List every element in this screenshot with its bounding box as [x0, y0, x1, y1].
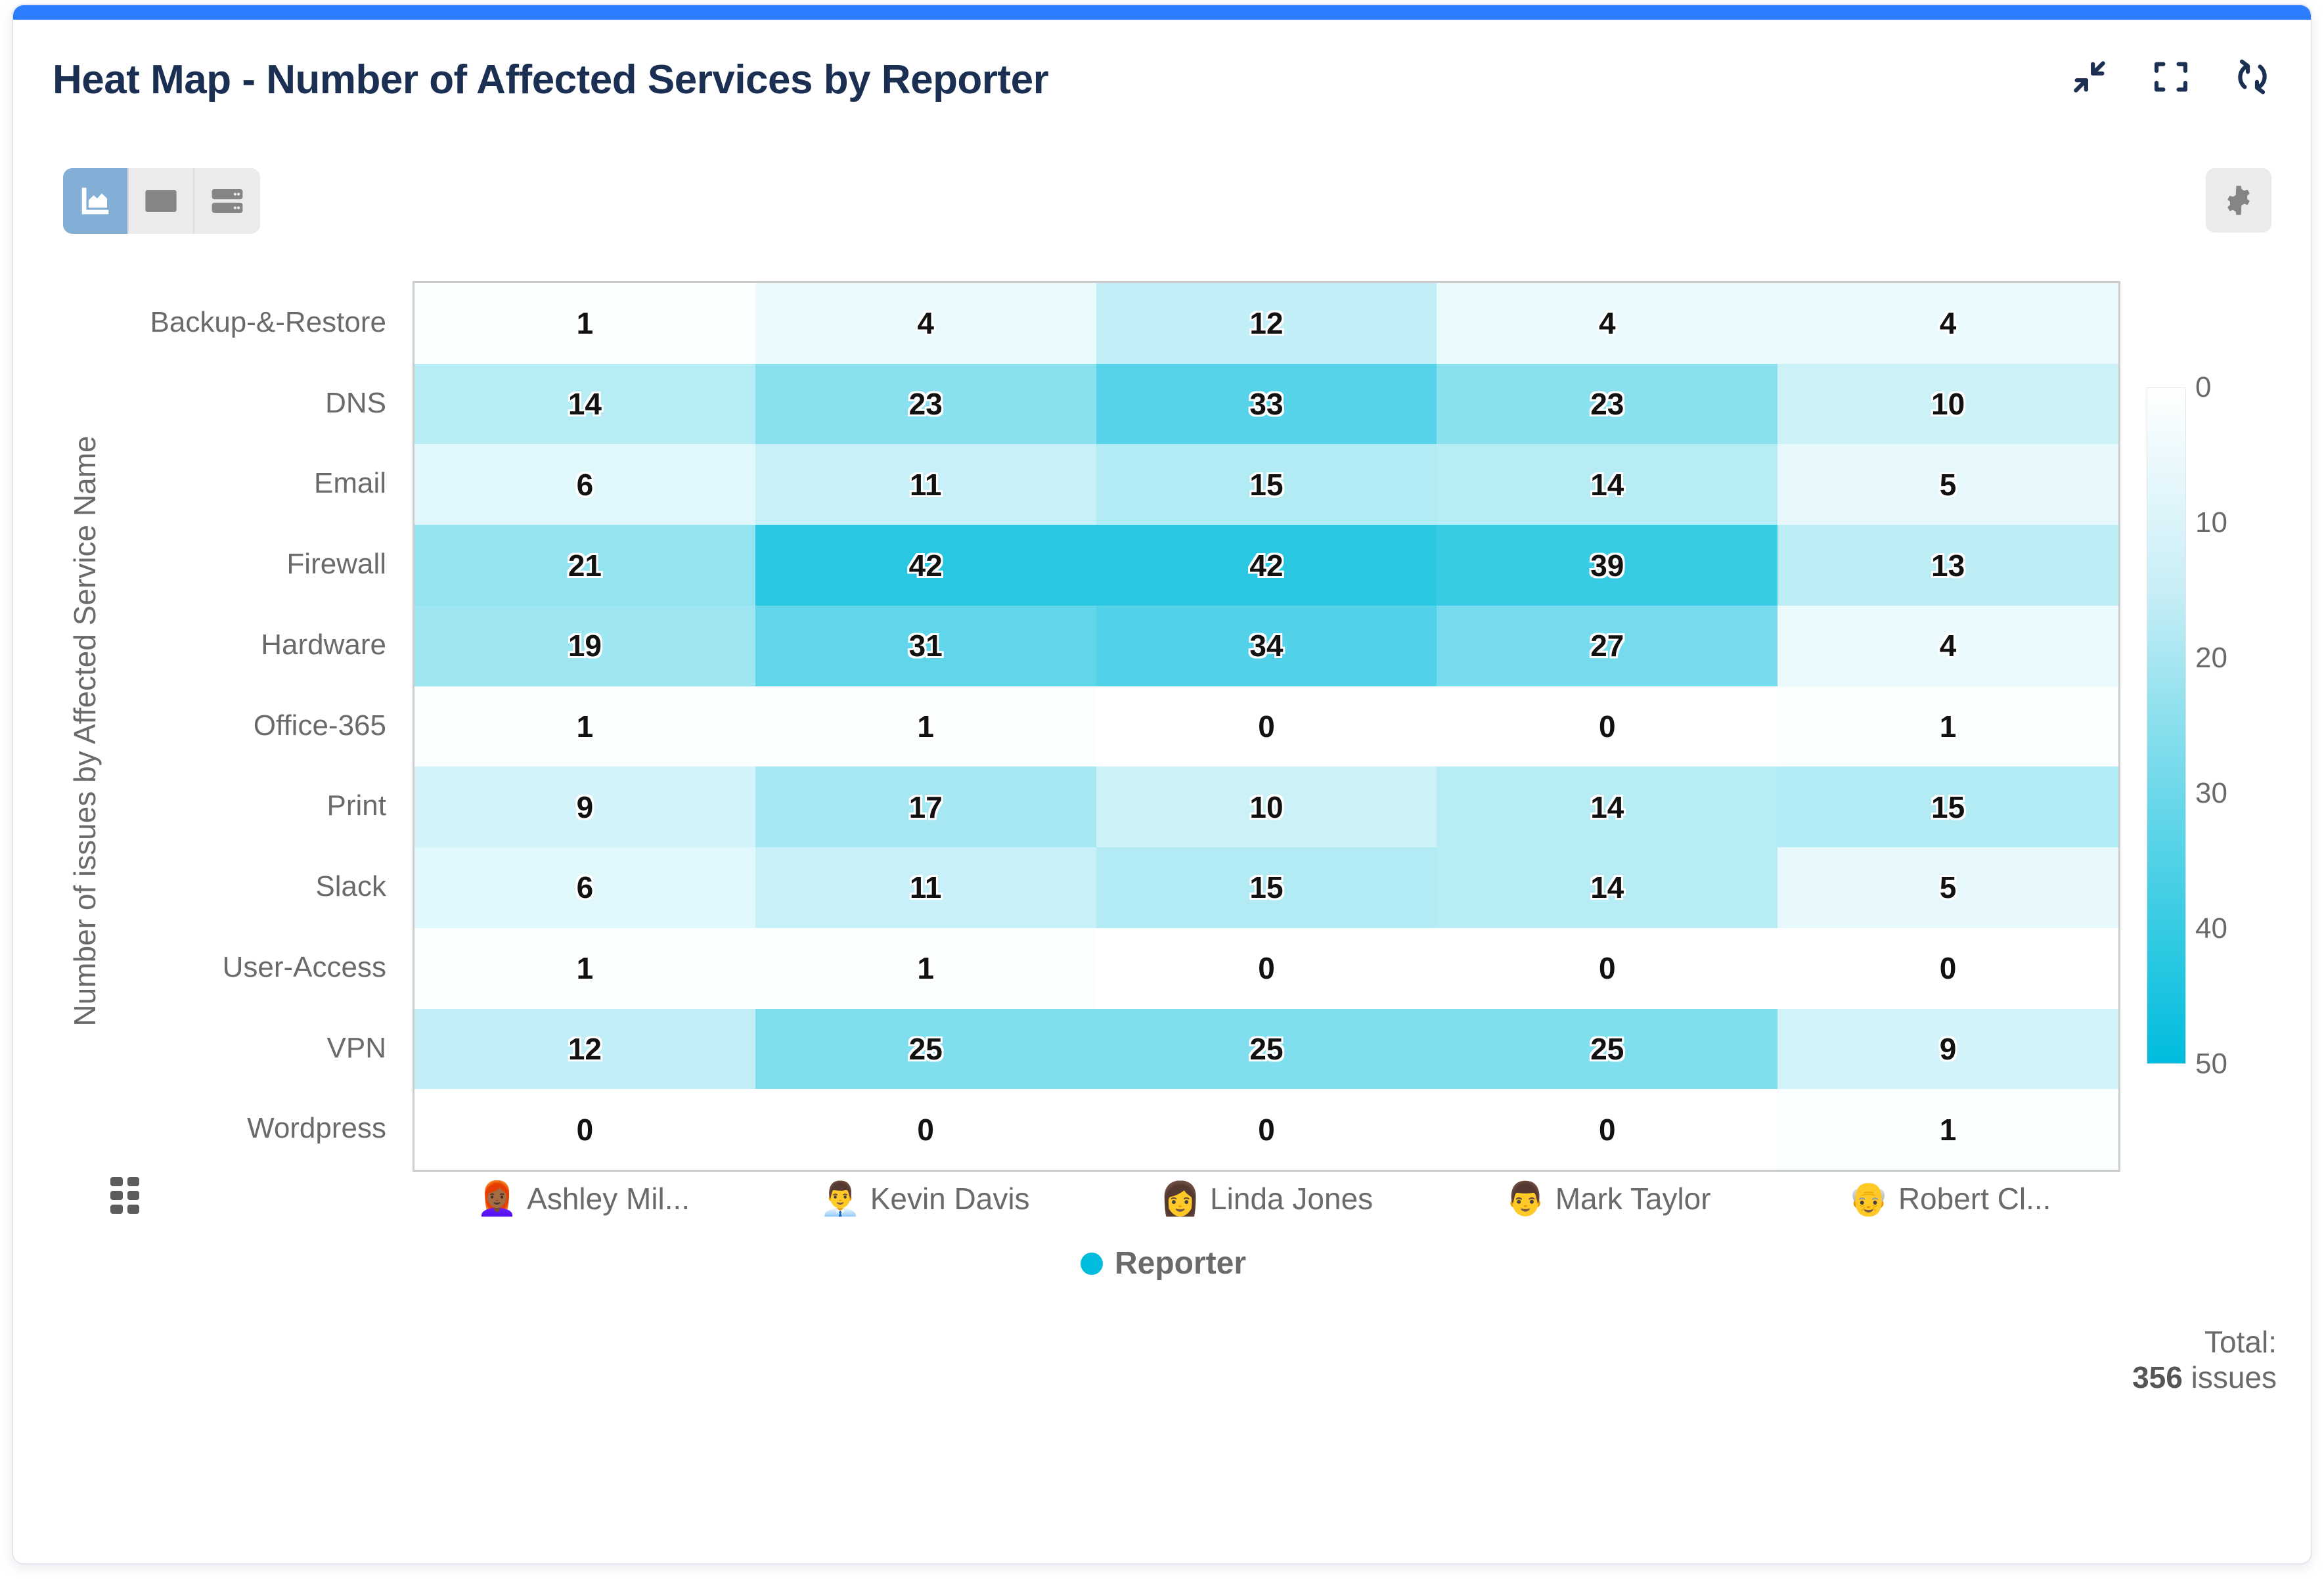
heatmap-cell[interactable]: 25 — [1437, 1009, 1777, 1090]
total-unit: issues — [2191, 1360, 2277, 1394]
color-scale-tick: 0 — [2195, 371, 2211, 404]
table-icon — [143, 183, 179, 219]
table-view-button[interactable] — [129, 168, 194, 234]
total-label: Total: — [2132, 1324, 2277, 1360]
heatmap-cell[interactable]: 10 — [1777, 364, 2118, 445]
x-axis-legend-label: Robert Cl... — [1898, 1181, 2051, 1216]
heatmap-cell[interactable]: 5 — [1777, 444, 2118, 525]
heatmap-cell[interactable]: 4 — [755, 283, 1096, 364]
heatmap-cell[interactable]: 1 — [755, 928, 1096, 1009]
series-color-dot — [1081, 1253, 1103, 1275]
y-axis-label: Backup-&-Restore — [150, 282, 386, 363]
heatmap-cell[interactable]: 1 — [1777, 686, 2118, 767]
settings-button[interactable] — [2206, 168, 2271, 233]
y-axis-label: Slack — [315, 847, 386, 927]
heatmap-grid: 1412441423332310611151452142423913193134… — [413, 281, 2120, 1172]
heatmap-cell[interactable]: 0 — [1777, 928, 2118, 1009]
x-axis-legend-item[interactable]: 👴Robert Cl... — [1779, 1181, 2120, 1216]
heatmap-cell[interactable]: 10 — [1096, 767, 1437, 847]
dot — [127, 1205, 140, 1214]
x-axis-legend-item[interactable]: 👩🏾‍🦰Ashley Mil... — [413, 1181, 754, 1216]
refresh-icon[interactable] — [2232, 56, 2273, 97]
heatmap-cell[interactable]: 0 — [1096, 928, 1437, 1009]
heatmap-cell[interactable]: 12 — [1096, 283, 1437, 364]
heatmap-cell[interactable]: 6 — [414, 847, 755, 928]
dot — [127, 1191, 140, 1200]
heatmap-cell[interactable]: 0 — [755, 1089, 1096, 1170]
heatmap-cell[interactable]: 42 — [755, 525, 1096, 606]
heatmap-cell[interactable]: 23 — [755, 364, 1096, 445]
color-scale-tick: 20 — [2195, 642, 2227, 675]
y-axis-labels: Backup-&-RestoreDNSEmailFirewallHardware… — [118, 282, 401, 1169]
y-axis-label: User-Access — [223, 927, 386, 1008]
avatar: 👨‍💼 — [820, 1182, 860, 1215]
view-toggle-group — [63, 168, 260, 234]
y-axis-label: Hardware — [261, 605, 386, 686]
heatmap-cell[interactable]: 4 — [1437, 283, 1777, 364]
heatmap-cell[interactable]: 31 — [755, 606, 1096, 686]
x-axis-legend-label: Ashley Mil... — [527, 1181, 690, 1216]
y-axis-label: Wordpress — [247, 1088, 386, 1169]
heatmap-cell[interactable]: 6 — [414, 444, 755, 525]
color-scale-tick: 50 — [2195, 1048, 2227, 1080]
y-axis-label: Firewall — [286, 524, 386, 605]
heatmap-cell[interactable]: 5 — [1777, 847, 2118, 928]
heatmap-cell[interactable]: 12 — [414, 1009, 755, 1090]
heatmap-cell[interactable]: 1 — [414, 928, 755, 1009]
server-rows-icon — [210, 183, 245, 219]
y-axis-label: Office-365 — [254, 686, 386, 767]
screenshot-root: Heat Map - Number of Affected Services b… — [0, 0, 2324, 1579]
dot — [127, 1177, 140, 1186]
y-axis-label: DNS — [325, 363, 386, 444]
heatmap-cell[interactable]: 0 — [1437, 686, 1777, 767]
heatmap-cell[interactable]: 1 — [1777, 1089, 2118, 1170]
collapse-icon[interactable] — [2069, 56, 2110, 97]
gear-icon — [2222, 183, 2256, 217]
heatmap-card: Heat Map - Number of Affected Services b… — [12, 4, 2312, 1565]
top-accent-bar — [13, 5, 2311, 20]
y-axis-label: VPN — [327, 1008, 386, 1089]
heatmap-cell[interactable]: 13 — [1777, 525, 2118, 606]
y-axis-label: Email — [314, 443, 386, 524]
heatmap-cell[interactable]: 14 — [414, 364, 755, 445]
heatmap-cell[interactable]: 25 — [755, 1009, 1096, 1090]
total-value: 356 — [2132, 1360, 2183, 1394]
avatar: 👴 — [1848, 1182, 1889, 1215]
y-axis-title-text: Number of issues by Affected Service Nam… — [67, 373, 102, 1089]
drag-handle-icon[interactable] — [110, 1177, 139, 1214]
color-scale-tick: 30 — [2195, 777, 2227, 810]
avatar: 👨 — [1505, 1182, 1546, 1215]
series-legend[interactable]: Reporter — [13, 1245, 2312, 1281]
color-scale-bar — [2147, 388, 2186, 1064]
heatmap-cell[interactable]: 0 — [1437, 928, 1777, 1009]
x-axis-legend-label: Kevin Davis — [870, 1181, 1030, 1216]
heatmap-cell[interactable]: 15 — [1777, 767, 2118, 847]
chart-view-button[interactable] — [63, 168, 129, 234]
avatar: 👩🏾‍🦰 — [477, 1182, 518, 1215]
heatmap-cell[interactable]: 14 — [1437, 847, 1777, 928]
heatmap-cell[interactable]: 9 — [1777, 1009, 2118, 1090]
heatmap-cell[interactable]: 15 — [1096, 444, 1437, 525]
heatmap-cell[interactable]: 0 — [1096, 1089, 1437, 1170]
heatmap-cell[interactable]: 1 — [414, 686, 755, 767]
heatmap-cell[interactable]: 19 — [414, 606, 755, 686]
dot — [110, 1205, 123, 1214]
heatmap-cell[interactable]: 34 — [1096, 606, 1437, 686]
list-view-button[interactable] — [194, 168, 260, 234]
heatmap-cell[interactable]: 23 — [1437, 364, 1777, 445]
heatmap-cell[interactable]: 17 — [755, 767, 1096, 847]
x-axis-legend: 👩🏾‍🦰Ashley Mil...👨‍💼Kevin Davis👩Linda Jo… — [413, 1181, 2120, 1216]
heatmap-cell[interactable]: 39 — [1437, 525, 1777, 606]
heatmap-cell[interactable]: 4 — [1777, 606, 2118, 686]
color-scale-tick: 40 — [2195, 912, 2227, 945]
heatmap-cell[interactable]: 11 — [755, 847, 1096, 928]
x-axis-legend-item[interactable]: 👨Mark Taylor — [1437, 1181, 1779, 1216]
total-line: 356 issues — [2132, 1360, 2277, 1395]
heatmap-cell[interactable]: 14 — [1437, 767, 1777, 847]
header-icon-group — [2069, 56, 2273, 97]
heatmap-cell[interactable]: 27 — [1437, 606, 1777, 686]
page-title: Heat Map - Number of Affected Services b… — [53, 56, 1048, 103]
fullscreen-icon[interactable] — [2151, 56, 2191, 97]
heatmap-cell[interactable]: 1 — [755, 686, 1096, 767]
heatmap-cell[interactable]: 9 — [414, 767, 755, 847]
color-scale: 01020304050 — [2147, 388, 2186, 1064]
heatmap-cell[interactable]: 4 — [1777, 283, 2118, 364]
series-legend-label: Reporter — [1115, 1245, 1246, 1281]
heatmap-cell[interactable]: 21 — [414, 525, 755, 606]
x-axis-legend-item[interactable]: 👩Linda Jones — [1096, 1181, 1437, 1216]
y-axis-label: Print — [327, 766, 386, 847]
avatar: 👩 — [1160, 1182, 1201, 1215]
dot — [110, 1177, 123, 1186]
heatmap-cell[interactable]: 1 — [414, 283, 755, 364]
dot — [110, 1191, 123, 1200]
heatmap-cell[interactable]: 33 — [1096, 364, 1437, 445]
heatmap-cell[interactable]: 0 — [1096, 686, 1437, 767]
heatmap-cell[interactable]: 11 — [755, 444, 1096, 525]
heatmap-cell[interactable]: 15 — [1096, 847, 1437, 928]
heatmap-cell[interactable]: 14 — [1437, 444, 1777, 525]
x-axis-legend-item[interactable]: 👨‍💼Kevin Davis — [754, 1181, 1096, 1216]
x-axis-legend-label: Linda Jones — [1210, 1181, 1373, 1216]
color-scale-tick: 10 — [2195, 506, 2227, 539]
area-chart-icon — [78, 183, 113, 219]
x-axis-legend-label: Mark Taylor — [1555, 1181, 1711, 1216]
heatmap-cell[interactable]: 42 — [1096, 525, 1437, 606]
heatmap-cell[interactable]: 0 — [414, 1089, 755, 1170]
heatmap-cell[interactable]: 0 — [1437, 1089, 1777, 1170]
total-summary: Total: 356 issues — [2132, 1324, 2277, 1396]
heatmap-cell[interactable]: 25 — [1096, 1009, 1437, 1090]
